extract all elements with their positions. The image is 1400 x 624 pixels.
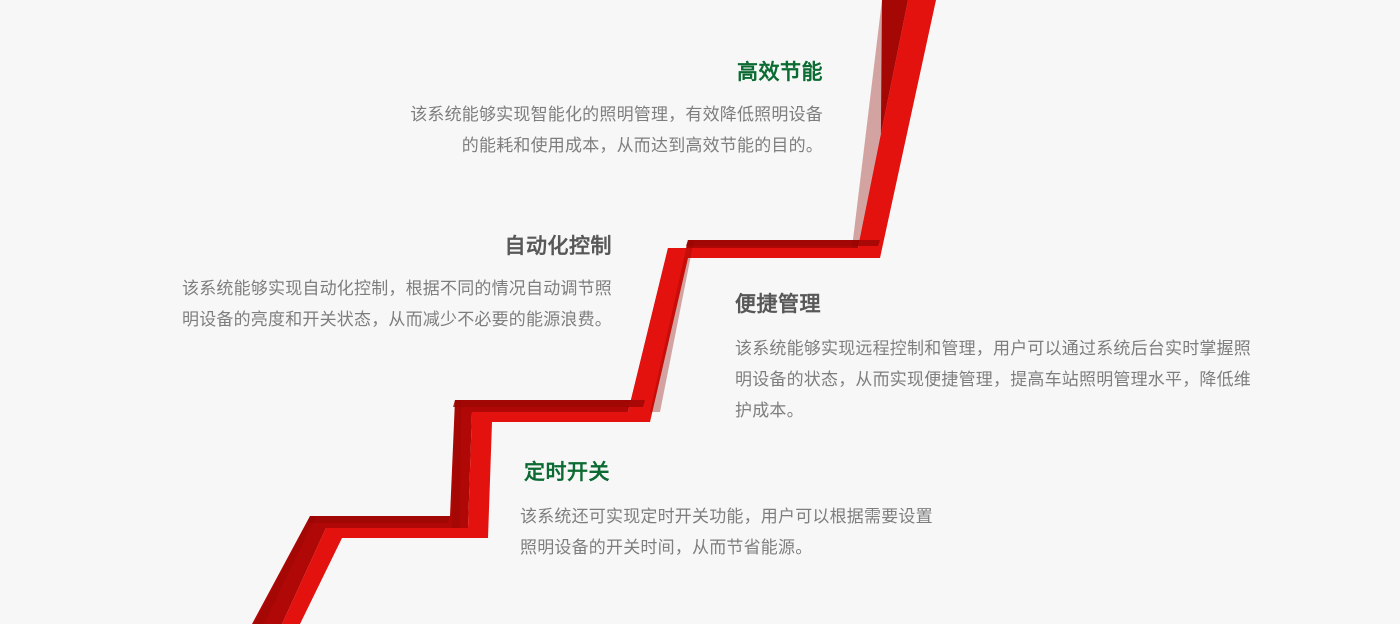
feature-block-timer: 定时开关 该系统还可实现定时开关功能，用户可以根据需要设置照明设备的开关时间，从… (520, 458, 940, 563)
feature-block-automation: 自动化控制 该系统能够实现自动化控制，根据不同的情况自动调节照明设备的亮度和开关… (178, 232, 612, 335)
feature-body-timer: 该系统还可实现定时开关功能，用户可以根据需要设置照明设备的开关时间，从而节省能源… (520, 501, 940, 563)
tread-cap-middle (453, 400, 645, 407)
feature-body-management: 该系统能够实现远程控制和管理，用户可以通过系统后台实时掌握照明设备的状态，从而实… (735, 333, 1255, 426)
feature-block-efficiency: 高效节能 该系统能够实现智能化的照明管理，有效降低照明设备的能耗和使用成本，从而… (400, 58, 823, 161)
feature-title-management: 便捷管理 (735, 290, 1255, 319)
feature-title-automation: 自动化控制 (178, 232, 612, 261)
tread-cap-bottom (308, 516, 450, 523)
feature-body-automation: 该系统能够实现自动化控制，根据不同的情况自动调节照明设备的亮度和开关状态，从而减… (178, 273, 612, 335)
feature-body-efficiency: 该系统能够实现智能化的照明管理，有效降低照明设备的能耗和使用成本，从而达到高效节… (400, 99, 823, 161)
feature-title-timer: 定时开关 (520, 458, 940, 487)
feature-title-efficiency: 高效节能 (400, 58, 823, 87)
feature-block-management: 便捷管理 该系统能够实现远程控制和管理，用户可以通过系统后台实时掌握照明设备的状… (735, 290, 1255, 426)
tread-cap-top (686, 240, 880, 246)
infographic-canvas: 高效节能 该系统能够实现智能化的照明管理，有效降低照明设备的能耗和使用成本，从而… (0, 0, 1400, 624)
